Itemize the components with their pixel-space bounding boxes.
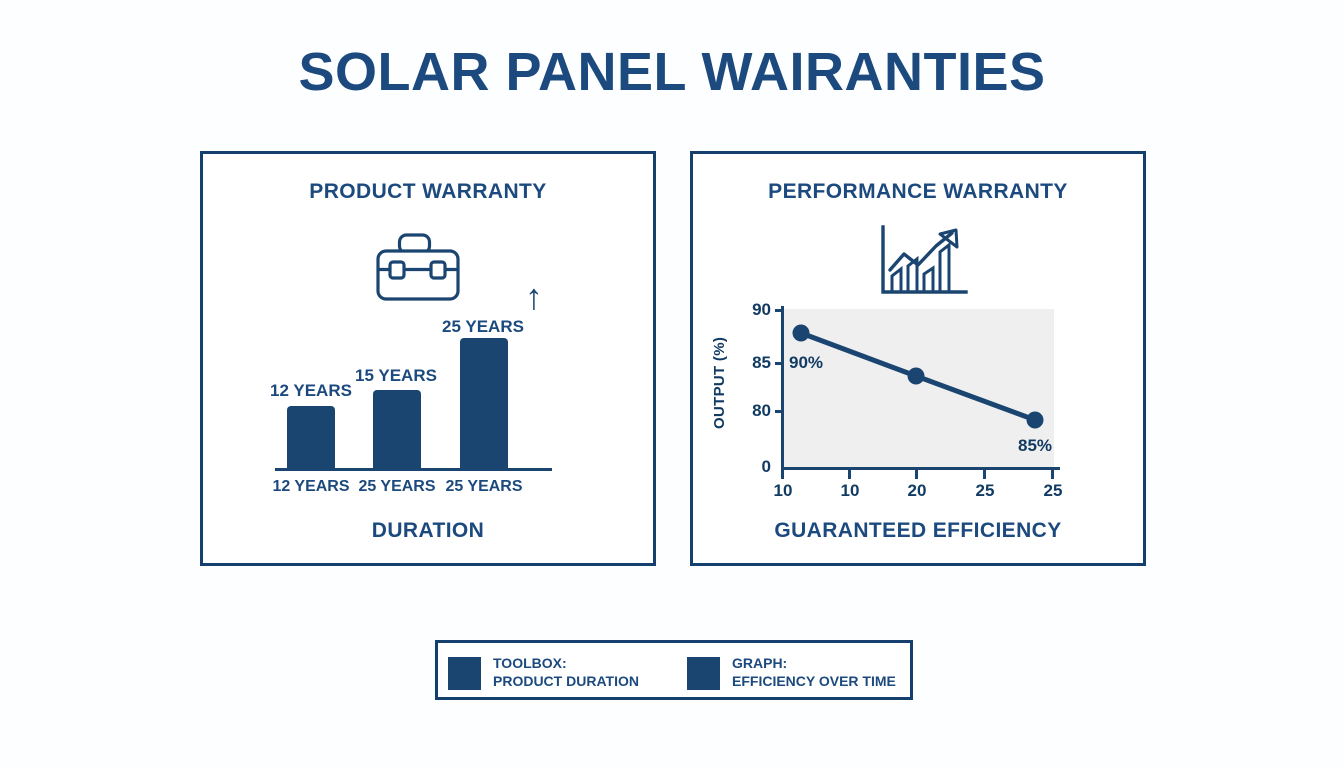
- infographic-canvas: SOLAR PANEL WAIRANTIES PRODUCT WARRANTY …: [0, 0, 1344, 768]
- legend-line2-graph: EFFICIENCY OVER TIME: [732, 673, 896, 691]
- y-tick-label-80: 80: [721, 401, 771, 421]
- performance-warranty-title: PERFORMANCE WARRANTY: [693, 180, 1143, 204]
- y-tick-label-0: 0: [721, 457, 771, 477]
- bar-value-label-1: 15 YEARS: [346, 366, 446, 386]
- legend-swatch-toolbox: [448, 657, 481, 690]
- y-tick-label-90: 90: [721, 300, 771, 320]
- y-tick-label-85: 85: [721, 353, 771, 373]
- data-point-label-0: 90%: [789, 353, 823, 373]
- up-arrow-icon: ↑: [525, 279, 543, 315]
- y-axis-line: [781, 306, 784, 470]
- legend-line1-toolbox: TOOLBOX:: [493, 655, 639, 673]
- x-tick-label-0: 10: [757, 481, 809, 501]
- bar-chart-baseline: [275, 468, 552, 471]
- y-axis-tick-80: [775, 410, 782, 413]
- product-warranty-panel: PRODUCT WARRANTY ↑ 12 YEARS 15 YEARS 25 …: [200, 151, 656, 566]
- legend-text-graph: GRAPH: EFFICIENCY OVER TIME: [732, 655, 896, 691]
- legend-line2-toolbox: PRODUCT DURATION: [493, 673, 639, 691]
- x-axis-tick-1: [848, 470, 851, 479]
- duration-footer-label: DURATION: [203, 519, 653, 543]
- legend-text-toolbox: TOOLBOX: PRODUCT DURATION: [493, 655, 639, 691]
- bar-2: [460, 338, 508, 469]
- bar-category-label-1: 25 YEARS: [347, 478, 447, 496]
- growth-chart-icon: [878, 224, 970, 299]
- product-duration-bar-chart: ↑ 12 YEARS 15 YEARS 25 YEARS 12 YEARS 25…: [203, 154, 653, 563]
- performance-warranty-panel: PERFORMANCE WARRANTY 90 85 80 0 OUTPUT (…: [690, 151, 1146, 566]
- x-tick-label-4: 25: [1027, 481, 1079, 501]
- product-warranty-title: PRODUCT WARRANTY: [203, 180, 653, 204]
- legend: TOOLBOX: PRODUCT DURATION GRAPH: EFFICIE…: [435, 640, 913, 700]
- y-axis-tick-85: [775, 362, 782, 365]
- x-tick-label-3: 25: [959, 481, 1011, 501]
- x-axis-tick-2: [915, 470, 918, 479]
- y-axis-tick-90: [775, 309, 782, 312]
- legend-line1-graph: GRAPH:: [732, 655, 896, 673]
- data-point-label-1: 85%: [1018, 436, 1052, 456]
- x-tick-label-2: 20: [891, 481, 943, 501]
- bar-value-label-0: 12 YEARS: [261, 381, 361, 401]
- x-tick-label-1: 10: [824, 481, 876, 501]
- line-chart-plot-area: [783, 309, 1054, 469]
- x-axis-line: [781, 467, 1060, 470]
- bar-category-label-0: 12 YEARS: [261, 478, 361, 496]
- bar-value-label-2: 25 YEARS: [433, 317, 533, 337]
- x-axis-tick-3: [983, 470, 986, 479]
- toolbox-icon: [374, 231, 470, 303]
- bar-category-label-2: 25 YEARS: [434, 478, 534, 496]
- legend-item-graph: GRAPH: EFFICIENCY OVER TIME: [687, 651, 896, 695]
- bar-0: [287, 406, 335, 469]
- bar-1: [373, 390, 421, 469]
- page-title: SOLAR PANEL WAIRANTIES: [0, 44, 1344, 101]
- y-axis-title: OUTPUT (%): [711, 337, 728, 429]
- guaranteed-efficiency-footer-label: GUARANTEED EFFICIENCY: [693, 519, 1143, 543]
- x-axis-tick-4: [1051, 470, 1054, 479]
- x-axis-tick-0: [781, 470, 784, 479]
- legend-swatch-graph: [687, 657, 720, 690]
- legend-item-toolbox: TOOLBOX: PRODUCT DURATION: [448, 651, 639, 695]
